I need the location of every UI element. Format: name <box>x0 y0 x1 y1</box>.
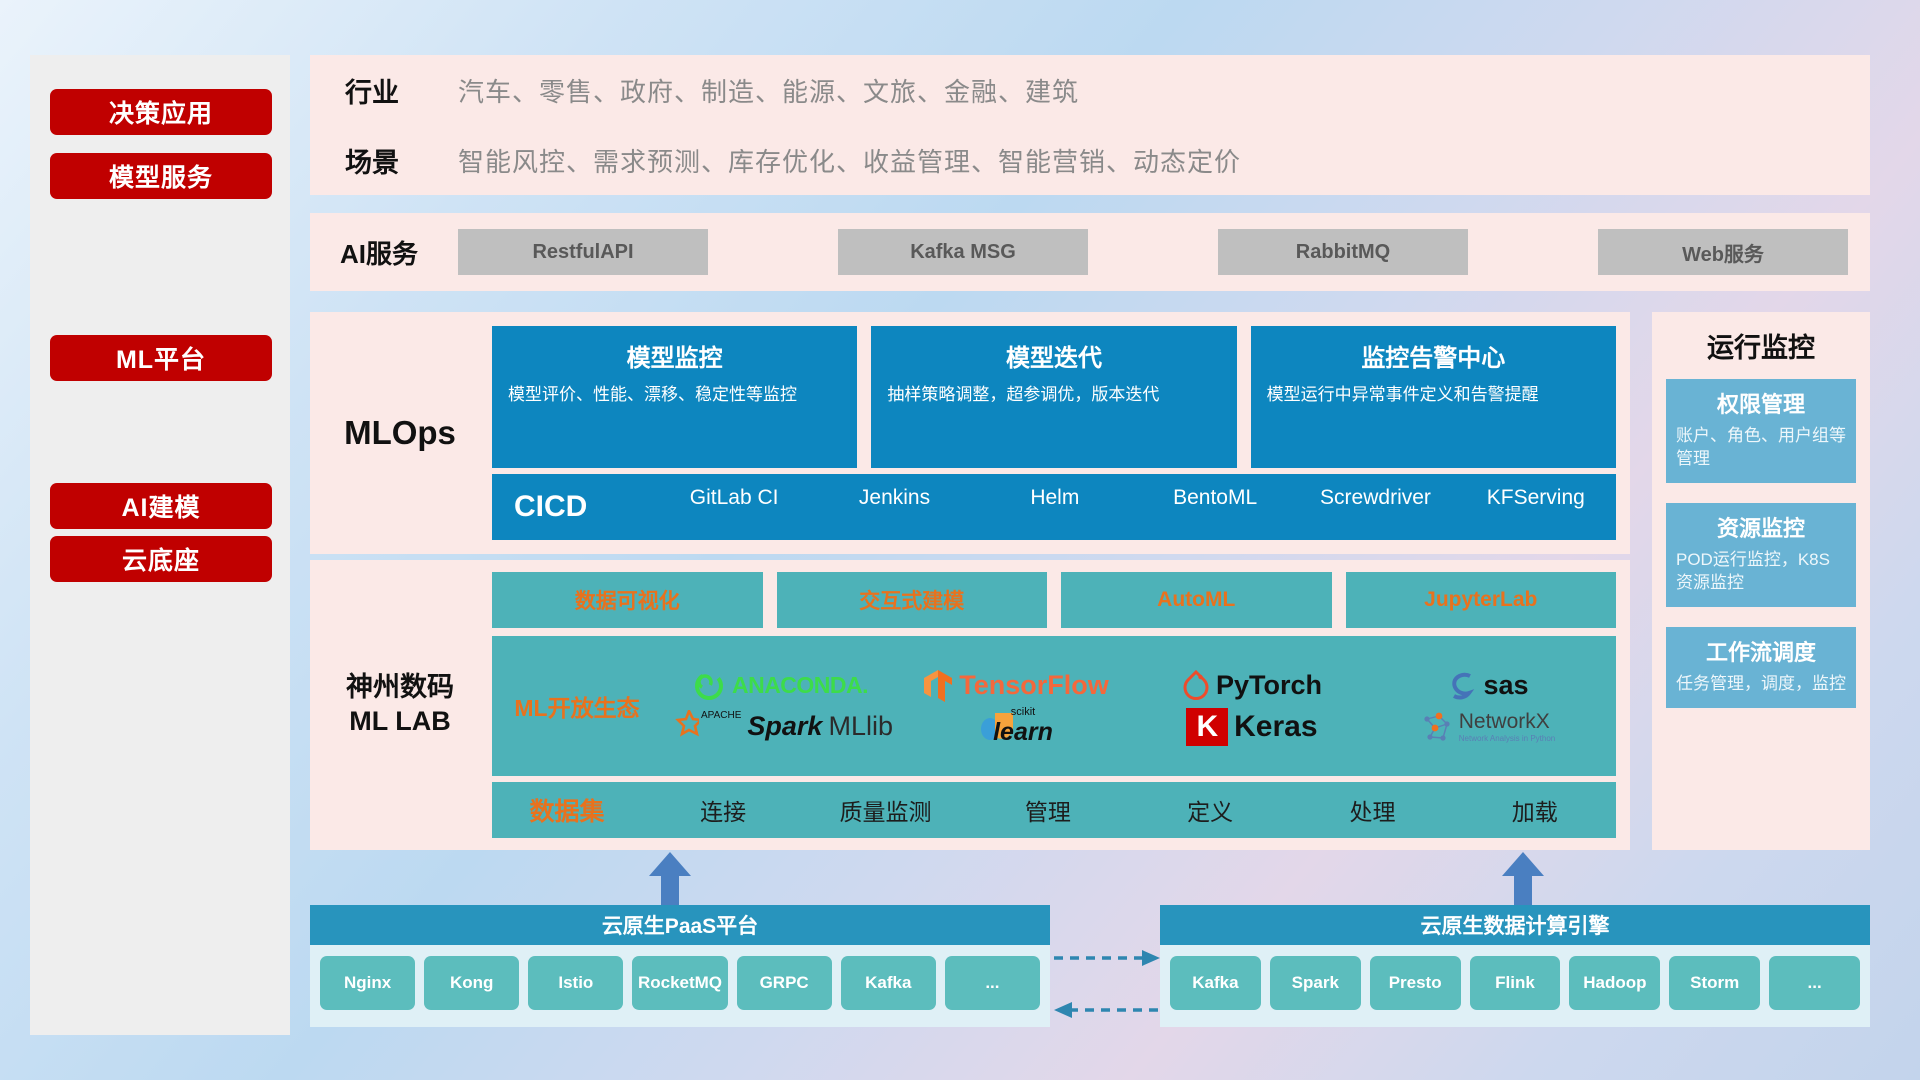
data-chip-presto[interactable]: Presto <box>1370 956 1461 1010</box>
rail-item-ai-modeling[interactable]: AI建模 <box>50 483 272 529</box>
ai-service-label: AI服务 <box>310 234 458 271</box>
rail-item-ml-platform[interactable]: ML平台 <box>50 335 272 381</box>
ml-open-ecosystem-logo-grid: ANACONDA. TensorFlow PyTorch <box>662 665 1616 747</box>
anaconda-mark-icon <box>692 669 726 703</box>
ai-service-chip-group: RestfulAPI Kafka MSG RabbitMQ Web服务 <box>458 229 1870 275</box>
keras-k-mark: K <box>1186 708 1228 746</box>
monitor-card-desc: 账户、角色、用户组等管理 <box>1676 425 1846 471</box>
cicd-item-screwdriver[interactable]: Screwdriver <box>1295 485 1455 529</box>
monitor-card-title: 资源监控 <box>1676 511 1846 543</box>
learn-wordmark: learn <box>993 718 1053 747</box>
monitor-card-workflow[interactable]: 工作流调度 任务管理，调度，监控 <box>1666 627 1856 708</box>
ai-service-chip-web-service[interactable]: Web服务 <box>1598 229 1848 275</box>
runtime-monitor-title: 运行监控 <box>1652 312 1870 379</box>
monitor-card-permission[interactable]: 权限管理 账户、角色、用户组等管理 <box>1666 379 1856 483</box>
rail-item-model-service[interactable]: 模型服务 <box>50 153 272 199</box>
cloud-chip-rocketmq[interactable]: RocketMQ <box>632 956 727 1010</box>
cloud-data-engine-chip-group: Kafka Spark Presto Flink Hadoop Storm ..… <box>1160 945 1870 1021</box>
dataset-item-quality[interactable]: 质量监测 <box>804 793 966 827</box>
dataset-item-manage[interactable]: 管理 <box>967 793 1129 827</box>
applications-panel: 行业 汽车、零售、政府、制造、能源、文旅、金融、建筑 场景 智能风控、需求预测、… <box>310 55 1870 195</box>
monitor-card-title: 权限管理 <box>1676 387 1846 419</box>
dataset-item-connect[interactable]: 连接 <box>642 793 804 827</box>
ml-lab-label: 神州数码 ML LAB <box>310 560 490 850</box>
rail-item-label: ML平台 <box>116 340 206 376</box>
mlops-label: MLOps <box>310 312 490 554</box>
dataset-item-process[interactable]: 处理 <box>1291 793 1453 827</box>
ml-lab-panel: 神州数码 ML LAB 数据可视化 交互式建模 AutoML JupyterLa… <box>310 560 1630 850</box>
cicd-item-kfserving[interactable]: KFServing <box>1456 485 1616 529</box>
ml-lab-label-line1: 神州数码 <box>346 671 454 705</box>
spark-star-icon <box>667 710 699 744</box>
industry-row: 行业 汽车、零售、政府、制造、能源、文旅、金融、建筑 <box>310 55 1870 125</box>
ml-lab-label-line2: ML LAB <box>349 705 451 739</box>
tensorflow-mark-icon <box>923 669 953 703</box>
monitor-card-desc: POD运行监控，K8S资源监控 <box>1676 549 1846 595</box>
bidirectional-dashed-arrows-icon <box>1050 942 1162 1026</box>
mlops-card-model-monitoring[interactable]: 模型监控 模型评价、性能、漂移、稳定性等监控 <box>492 326 857 468</box>
left-rail: 决策应用 模型服务 ML平台 AI建模 云底座 <box>30 55 290 1035</box>
networkx-graph-icon <box>1421 710 1453 744</box>
anaconda-wordmark: ANACONDA. <box>732 672 868 699</box>
sas-mark-icon <box>1447 669 1477 703</box>
monitor-card-resource[interactable]: 资源监控 POD运行监控，K8S资源监控 <box>1666 503 1856 607</box>
cicd-item-helm[interactable]: Helm <box>975 485 1135 529</box>
ai-service-chip-restfulapi[interactable]: RestfulAPI <box>458 229 708 275</box>
mlops-card-group: 模型监控 模型评价、性能、漂移、稳定性等监控 模型迭代 抽样策略调整，超参调优，… <box>492 326 1616 468</box>
rail-item-label: 决策应用 <box>109 94 213 130</box>
cicd-item-bentoml[interactable]: BentoML <box>1135 485 1295 529</box>
mlops-card-desc: 抽样策略调整，超参调优，版本迭代 <box>887 383 1220 408</box>
cloud-data-engine-group: 云原生数据计算引擎 Kafka Spark Presto Flink Hadoo… <box>1160 905 1870 1027</box>
dataset-item-define[interactable]: 定义 <box>1129 793 1291 827</box>
mlops-card-desc: 模型评价、性能、漂移、稳定性等监控 <box>508 383 841 408</box>
cicd-title: CICD <box>514 490 654 524</box>
cloud-paas-chip-group: Nginx Kong Istio RocketMQ GRPC Kafka ... <box>310 945 1050 1021</box>
ml-lab-tool-jupyterlab[interactable]: JupyterLab <box>1346 572 1617 628</box>
ml-lab-tool-automl[interactable]: AutoML <box>1061 572 1332 628</box>
mlops-card-model-iteration[interactable]: 模型迭代 抽样策略调整，超参调优，版本迭代 <box>871 326 1236 468</box>
industry-label: 行业 <box>310 71 458 110</box>
scenario-value: 智能风控、需求预测、库存优化、收益管理、智能营销、动态定价 <box>458 142 1241 179</box>
anaconda-logo: ANACONDA. <box>692 669 868 703</box>
ml-open-ecosystem: ML开放生态 ANACONDA. TensorFlow <box>492 636 1616 776</box>
ai-service-panel: AI服务 RestfulAPI Kafka MSG RabbitMQ Web服务 <box>310 213 1870 291</box>
pytorch-logo: PyTorch <box>1182 669 1322 703</box>
data-chip-flink[interactable]: Flink <box>1470 956 1561 1010</box>
keras-logo: K Keras <box>1186 708 1317 746</box>
cloud-paas-group: 云原生PaaS平台 Nginx Kong Istio RocketMQ GRPC… <box>310 905 1050 1027</box>
keras-wordmark: Keras <box>1234 710 1317 744</box>
cloud-chip-istio[interactable]: Istio <box>528 956 623 1010</box>
data-chip-hadoop[interactable]: Hadoop <box>1569 956 1660 1010</box>
cicd-item-jenkins[interactable]: Jenkins <box>814 485 974 529</box>
networkx-tagline: Network Analysis in Python <box>1459 734 1556 743</box>
ai-service-chip-kafka-msg[interactable]: Kafka MSG <box>838 229 1088 275</box>
dataset-item-group: 连接 质量监测 管理 定义 处理 加载 <box>642 793 1616 827</box>
dataset-title: 数据集 <box>492 792 642 828</box>
cloud-chip-kafka[interactable]: Kafka <box>841 956 936 1010</box>
dataset-item-load[interactable]: 加载 <box>1454 793 1616 827</box>
cloud-chip-nginx[interactable]: Nginx <box>320 956 415 1010</box>
pytorch-mark-icon <box>1182 669 1210 703</box>
mlops-card-alert-center[interactable]: 监控告警中心 模型运行中异常事件定义和告警提醒 <box>1251 326 1616 468</box>
ml-lab-tool-interactive-modeling[interactable]: 交互式建模 <box>777 572 1048 628</box>
cicd-bar: CICD GitLab CI Jenkins Helm BentoML Scre… <box>492 474 1616 540</box>
data-chip-more[interactable]: ... <box>1769 956 1860 1010</box>
mlops-card-desc: 模型运行中异常事件定义和告警提醒 <box>1267 383 1600 408</box>
sas-logo: sas <box>1447 669 1528 703</box>
cloud-data-engine-title: 云原生数据计算引擎 <box>1160 905 1870 945</box>
sas-wordmark: sas <box>1483 670 1528 701</box>
spark-apache-tag: APACHE <box>701 710 741 721</box>
data-chip-spark[interactable]: Spark <box>1270 956 1361 1010</box>
ml-open-ecosystem-title: ML开放生态 <box>492 689 662 723</box>
data-chip-kafka[interactable]: Kafka <box>1170 956 1261 1010</box>
networkx-logo: NetworkX Network Analysis in Python <box>1421 710 1556 744</box>
cloud-chip-kong[interactable]: Kong <box>424 956 519 1010</box>
cloud-chip-more[interactable]: ... <box>945 956 1040 1010</box>
networkx-wordmark: NetworkX <box>1459 710 1556 734</box>
pytorch-wordmark: PyTorch <box>1216 670 1322 701</box>
ml-lab-tool-group: 数据可视化 交互式建模 AutoML JupyterLab <box>492 572 1616 628</box>
cicd-item-group: GitLab CI Jenkins Helm BentoML Screwdriv… <box>654 485 1616 529</box>
rail-item-label: AI建模 <box>121 488 200 524</box>
monitor-card-desc: 任务管理，调度，监控 <box>1676 673 1846 696</box>
rail-item-label: 模型服务 <box>109 158 213 194</box>
scenario-row: 场景 智能风控、需求预测、库存优化、收益管理、智能营销、动态定价 <box>310 125 1870 195</box>
scenario-label: 场景 <box>310 141 458 180</box>
rail-item-decision-apps[interactable]: 决策应用 <box>50 89 272 135</box>
mlops-card-title: 模型监控 <box>508 338 841 373</box>
tensorflow-logo: TensorFlow <box>923 669 1109 703</box>
data-chip-storm[interactable]: Storm <box>1669 956 1760 1010</box>
ai-service-chip-rabbitmq[interactable]: RabbitMQ <box>1218 229 1468 275</box>
cloud-paas-title: 云原生PaaS平台 <box>310 905 1050 945</box>
mlops-card-title: 模型迭代 <box>887 338 1220 373</box>
cloud-chip-grpc[interactable]: GRPC <box>737 956 832 1010</box>
cicd-item-gitlab-ci[interactable]: GitLab CI <box>654 485 814 529</box>
dataset-bar: 数据集 连接 质量监测 管理 定义 处理 加载 <box>492 782 1616 838</box>
rail-item-cloud-foundation[interactable]: 云底座 <box>50 536 272 582</box>
monitor-card-title: 工作流调度 <box>1676 635 1846 667</box>
scikit-tag: scikit <box>993 706 1053 718</box>
mllib-wordmark: MLlib <box>828 711 893 742</box>
spark-wordmark: Spark <box>747 711 822 742</box>
industry-value: 汽车、零售、政府、制造、能源、文旅、金融、建筑 <box>458 72 1079 109</box>
scikit-learn-logo: scikit learn <box>979 706 1053 747</box>
rail-item-label: 云底座 <box>122 541 200 577</box>
spark-mllib-logo: APACHE Spark MLlib <box>667 710 893 744</box>
tensorflow-wordmark: TensorFlow <box>959 670 1109 701</box>
mlops-panel: MLOps 模型监控 模型评价、性能、漂移、稳定性等监控 模型迭代 抽样策略调整… <box>310 312 1630 554</box>
runtime-monitor-panel: 运行监控 权限管理 账户、角色、用户组等管理 资源监控 POD运行监控，K8S资… <box>1652 312 1870 850</box>
ml-lab-tool-data-visualization[interactable]: 数据可视化 <box>492 572 763 628</box>
mlops-card-title: 监控告警中心 <box>1267 338 1600 373</box>
